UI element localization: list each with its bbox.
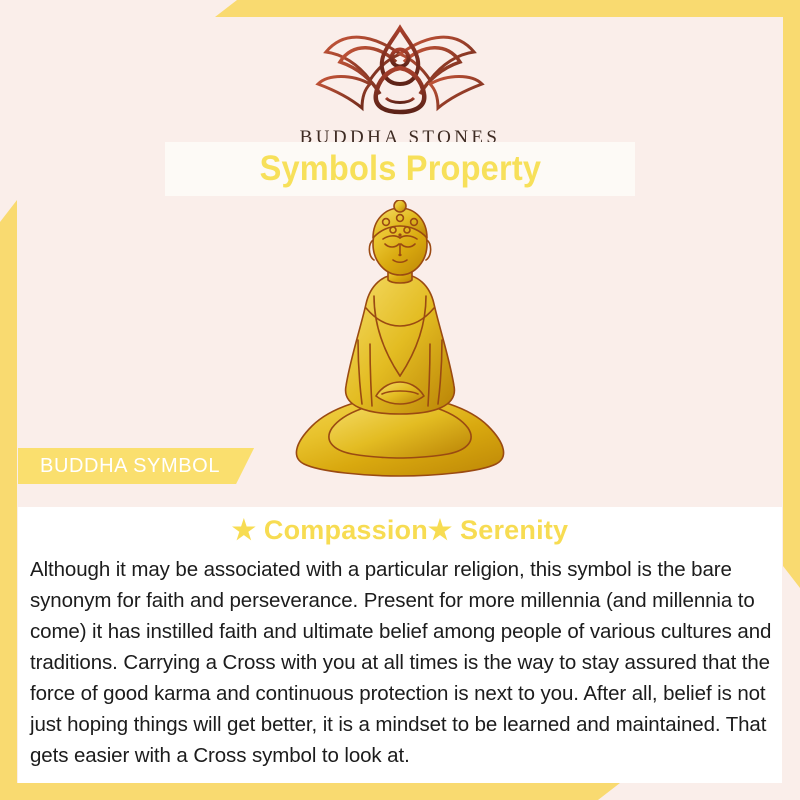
content-panel: ★ Compassion★ Serenity Although it may b… bbox=[18, 507, 782, 783]
page-title: Symbols Property bbox=[259, 149, 541, 189]
lotus-meditation-icon bbox=[0, 18, 800, 123]
buddha-illustration bbox=[0, 200, 800, 490]
ribbon-label: BUDDHA SYMBOL bbox=[40, 455, 220, 478]
poster-root: BUDDHA STONES Symbols Property bbox=[0, 0, 800, 800]
section-ribbon: BUDDHA SYMBOL bbox=[18, 448, 254, 484]
content-paragraph: Although it may be associated with a par… bbox=[30, 554, 772, 771]
title-banner: Symbols Property bbox=[165, 142, 635, 196]
content-subheading: ★ Compassion★ Serenity bbox=[18, 515, 782, 546]
seated-golden-buddha-illustration bbox=[270, 200, 530, 490]
decorative-frame-bottom bbox=[0, 783, 620, 800]
brand-header: BUDDHA STONES bbox=[0, 18, 800, 149]
decorative-frame-top bbox=[215, 0, 800, 17]
